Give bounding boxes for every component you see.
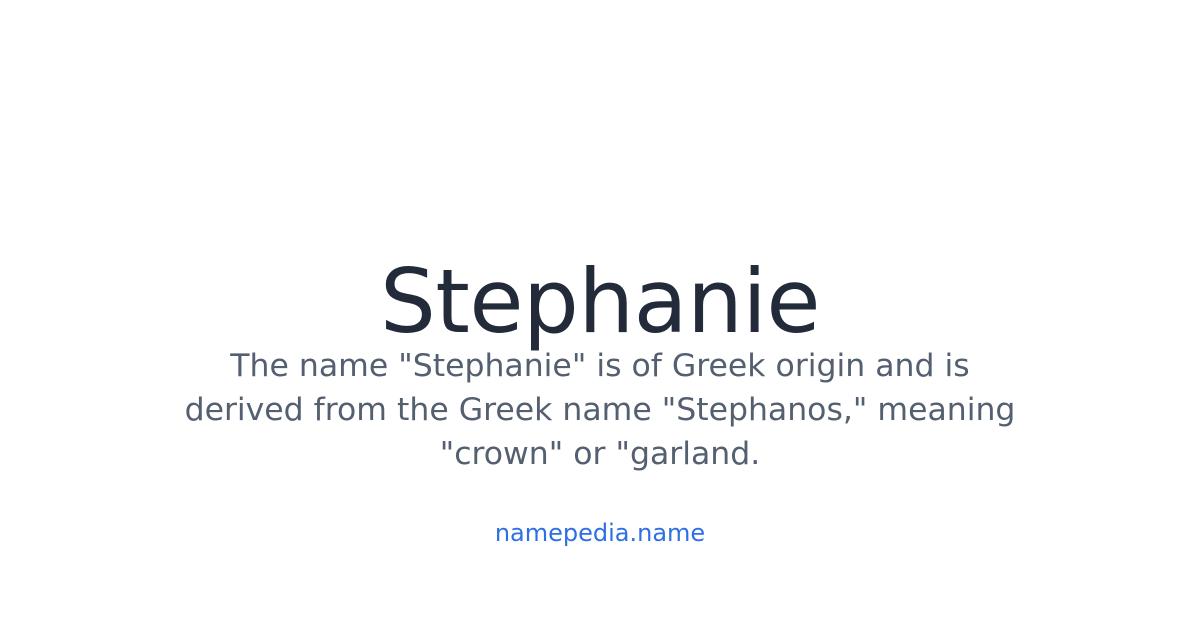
footer: namepedia.name — [200, 518, 1000, 548]
name-description: The name "Stephanie" is of Greek origin … — [180, 344, 1020, 476]
page-title: Stephanie — [40, 255, 1160, 348]
site-link[interactable]: namepedia.name — [495, 519, 705, 547]
card-content-stack: Stephanie The name "Stephanie" is of Gre… — [0, 0, 1200, 630]
name-meaning-card: Stephanie The name "Stephanie" is of Gre… — [0, 0, 1200, 630]
